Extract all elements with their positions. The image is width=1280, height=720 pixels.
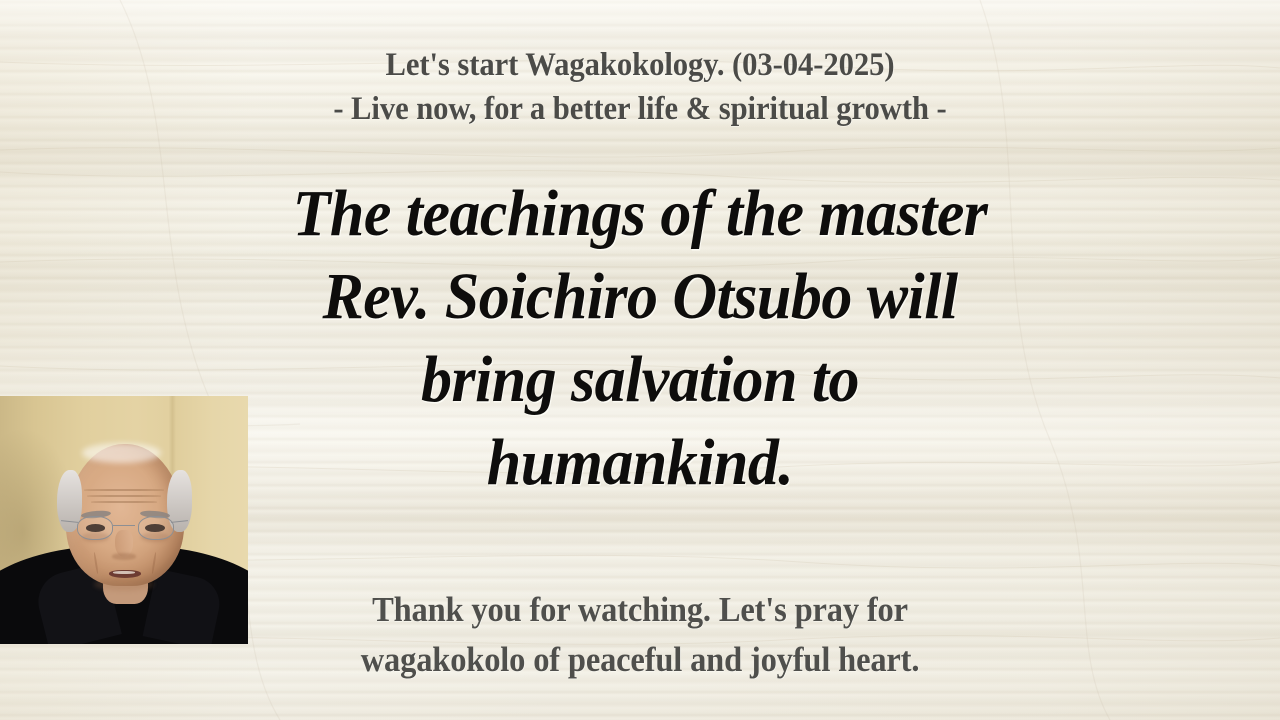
speaker-nose-shadow xyxy=(112,553,137,559)
speaker-chin-shadow xyxy=(94,578,154,590)
slide-title-line-1: The teachings of the master xyxy=(38,172,1241,255)
speaker-forehead-wrinkle xyxy=(84,489,163,491)
speaker-glasses-bridge xyxy=(113,525,135,526)
speaker-forehead-wrinkle xyxy=(91,501,158,503)
speaker-forehead-wrinkle xyxy=(87,495,161,497)
speaker-teeth xyxy=(113,571,135,574)
slide-header: Let's start Wagakokology. (03-04-2025) -… xyxy=(45,44,1235,131)
webcam-video-feed xyxy=(0,396,248,644)
slide-header-line-1: Let's start Wagakokology. (03-04-2025) xyxy=(45,44,1235,88)
webcam-overlay[interactable] xyxy=(0,396,248,644)
slide-header-line-2: - Live now, for a better life & spiritua… xyxy=(45,88,1235,132)
speaker-glasses-lens-right xyxy=(138,516,174,540)
slide-title-line-2: Rev. Soichiro Otsubo will xyxy=(38,255,1241,338)
speaker-hair-highlight xyxy=(82,443,161,463)
presentation-slide: Let's start Wagakokology. (03-04-2025) -… xyxy=(0,0,1280,720)
speaker-glasses-lens-left xyxy=(77,516,113,540)
